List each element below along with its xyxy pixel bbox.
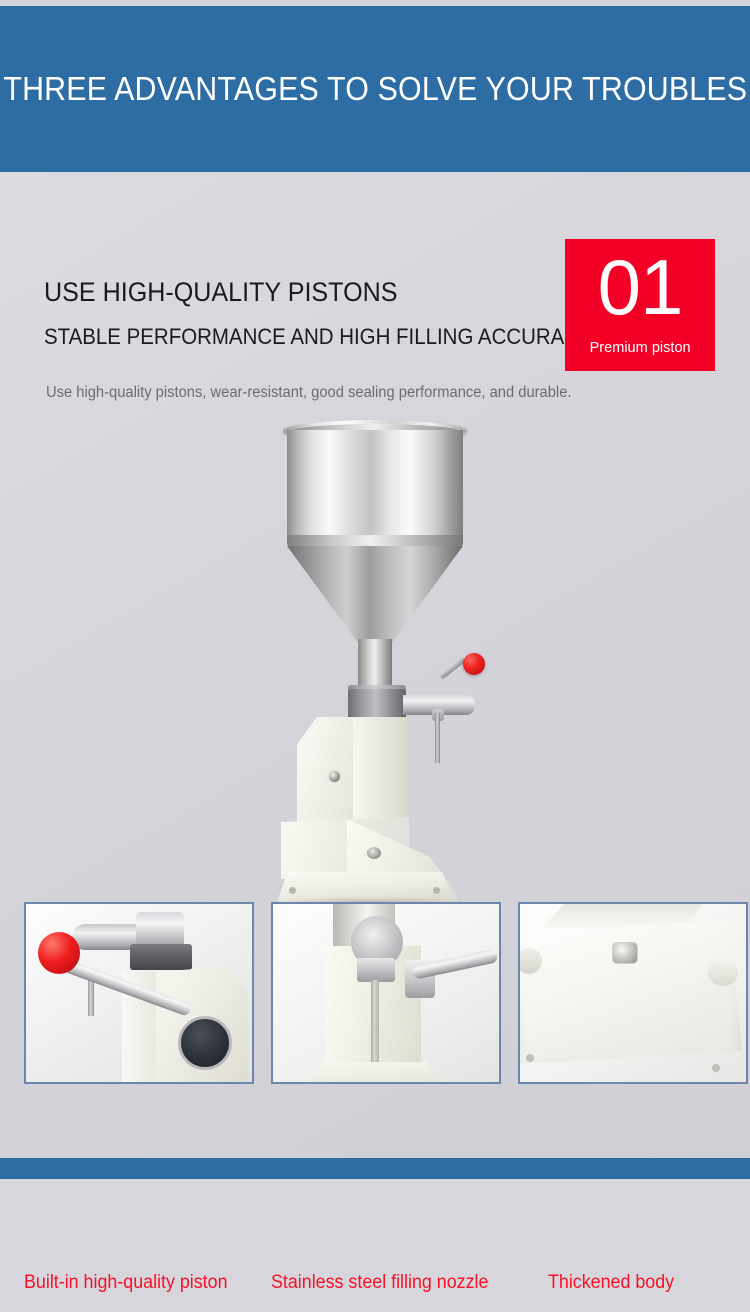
content-area: USE HIGH-QUALITY PISTONS STABLE PERFORMA…	[0, 172, 750, 1158]
thumb1-piston-disc	[178, 1016, 232, 1070]
thumb1-red-ball-knob	[38, 932, 80, 974]
promo-page: THREE ADVANTAGES TO SOLVE YOUR TROUBLES …	[0, 0, 750, 1179]
red-ball-knob	[463, 653, 485, 675]
thumbnail-row	[0, 902, 750, 1084]
housing-bolt	[327, 769, 342, 784]
caption-thickened-body: Thickened body	[548, 1272, 674, 1294]
thumb2-nozzle-collar	[357, 958, 395, 982]
funnel-cone	[287, 546, 463, 642]
header-banner: THREE ADVANTAGES TO SOLVE YOUR TROUBLES	[0, 6, 750, 172]
thumb3-screw-left	[526, 1054, 534, 1062]
wing-bolt	[367, 847, 381, 859]
thumbnail-built-in-piston[interactable]	[24, 902, 254, 1084]
thumb3-body-slab	[518, 910, 742, 1070]
thumb3-screw-right	[712, 1064, 720, 1072]
section-body-text: Use high-quality pistons, wear-resistant…	[46, 384, 571, 402]
badge-caption: Premium piston	[589, 339, 690, 357]
lever-arm	[439, 657, 466, 679]
drip-rod	[435, 713, 440, 763]
thumb3-bolt	[612, 942, 638, 964]
caption-row: Built-in high-quality piston Stainless s…	[0, 1272, 750, 1312]
base-screw-right	[433, 887, 440, 894]
page-title: THREE ADVANTAGES TO SOLVE YOUR TROUBLES	[3, 70, 747, 108]
machine-housing-upper-face	[353, 717, 407, 823]
section-subheadline: STABLE PERFORMANCE AND HIGH FILLING ACCU…	[44, 324, 593, 350]
thumb3-right-nub	[708, 960, 738, 986]
hopper-bottom-band	[287, 535, 463, 547]
thumbnail-thickened-body[interactable]	[518, 902, 748, 1084]
base-screw-left	[289, 887, 296, 894]
caption-built-in-piston: Built-in high-quality piston	[24, 1272, 228, 1294]
advantage-number-badge: 01 Premium piston	[565, 239, 715, 371]
footer-bar	[0, 1158, 750, 1179]
thumb1-dark-collar	[130, 944, 192, 970]
hopper-cylinder	[287, 430, 463, 543]
section-headline: USE HIGH-QUALITY PISTONS	[44, 277, 397, 308]
badge-number: 01	[598, 241, 683, 333]
caption-filling-nozzle: Stainless steel filling nozzle	[271, 1272, 488, 1294]
product-hero-image	[255, 417, 495, 897]
thumb2-base	[309, 1062, 441, 1084]
thumbnail-filling-nozzle[interactable]	[271, 902, 501, 1084]
